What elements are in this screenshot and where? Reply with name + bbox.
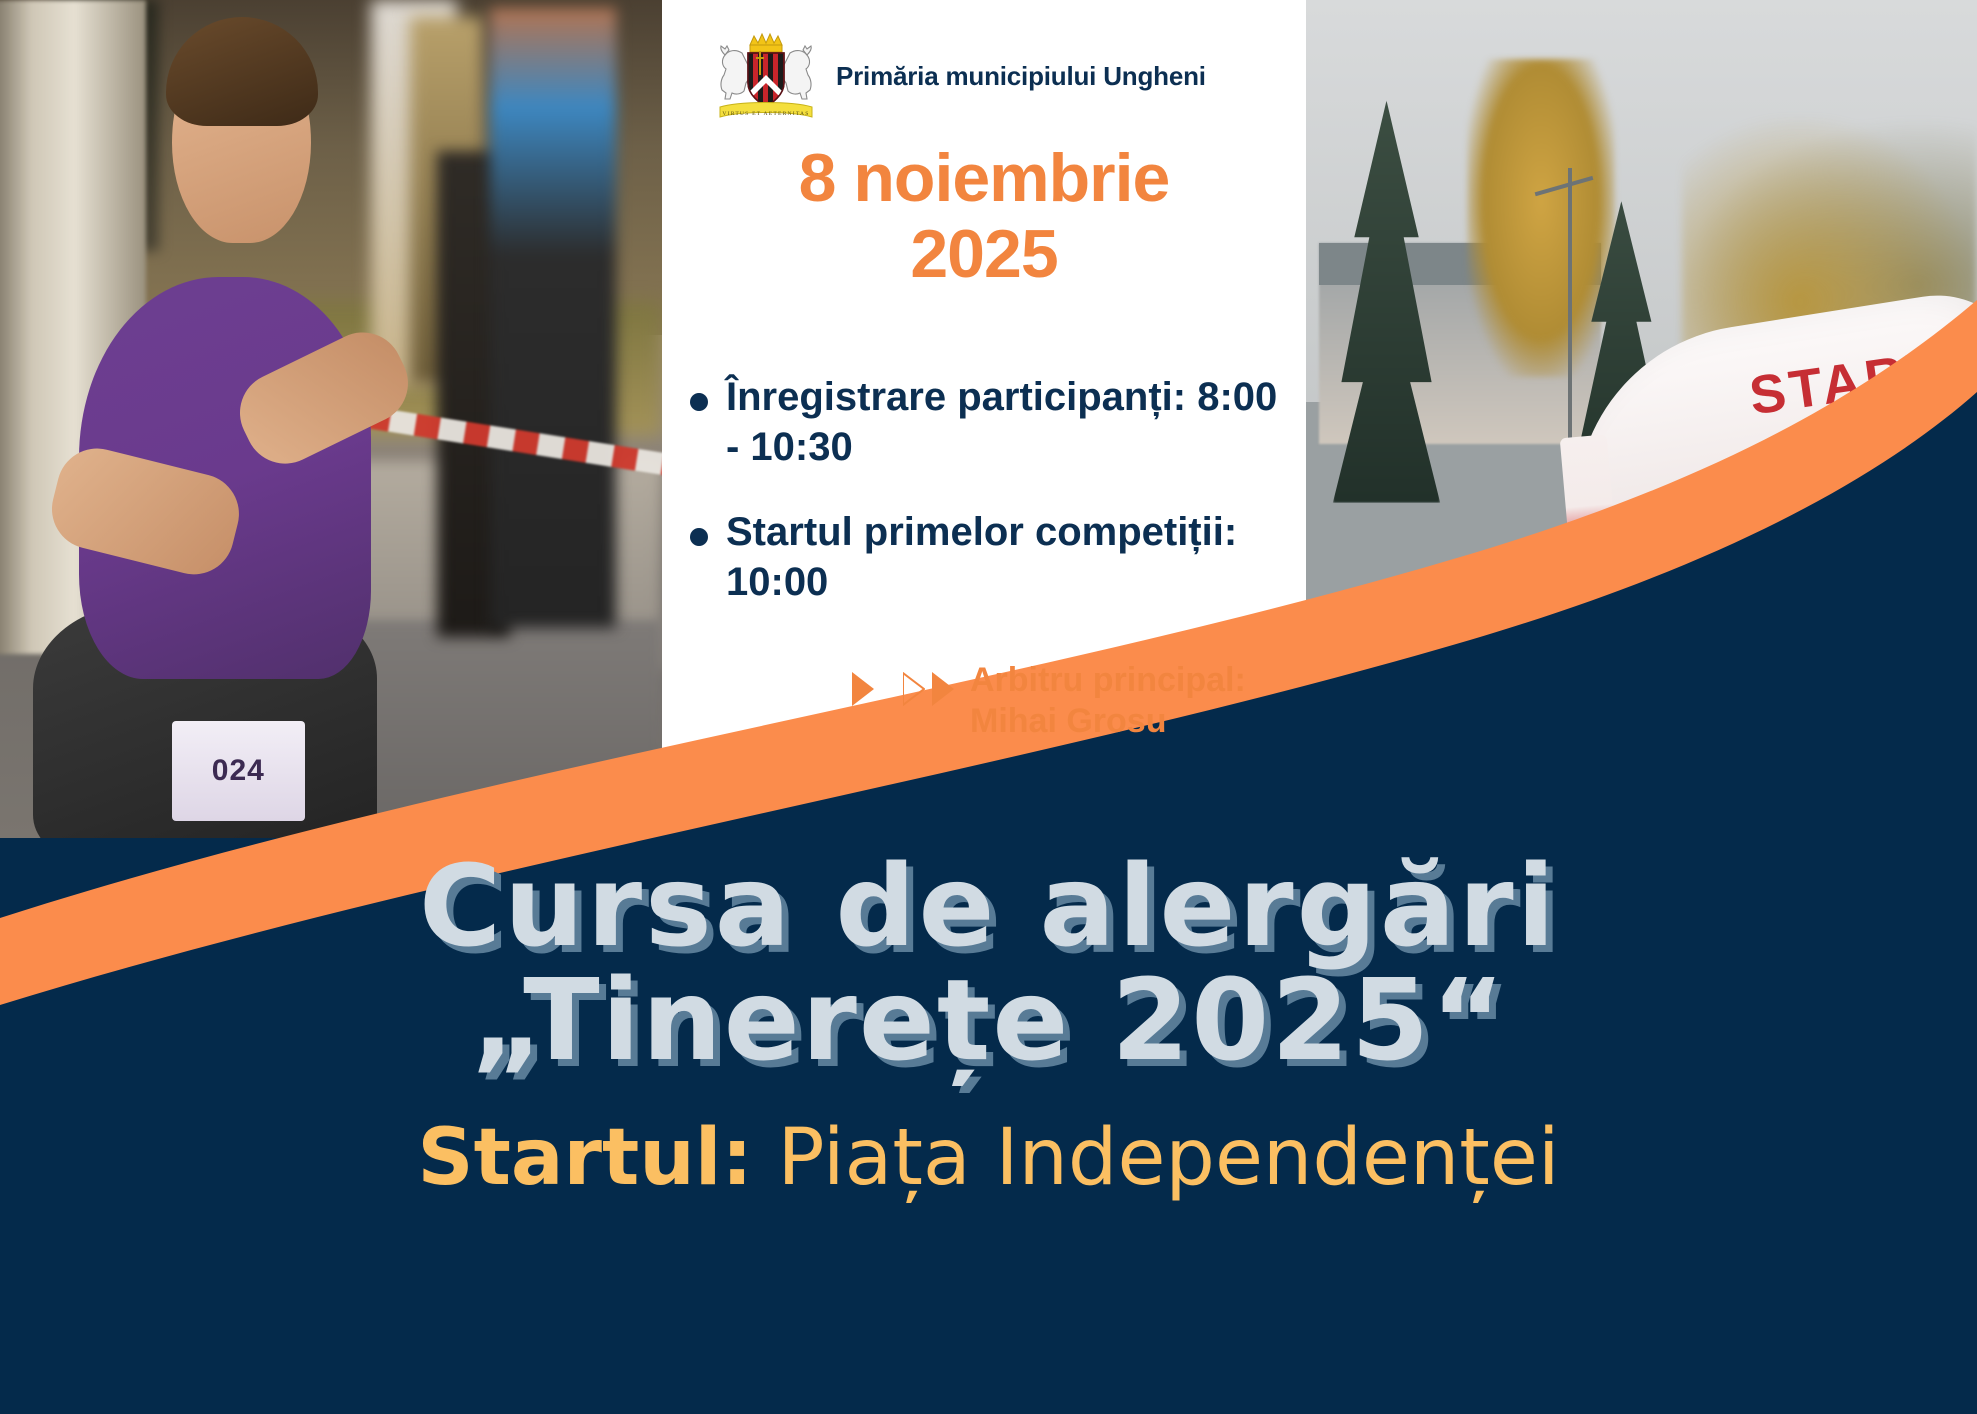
play-triangle-outline-icon <box>881 672 925 706</box>
bullet-icon <box>690 528 708 546</box>
schedule-item-start-text: Startul primelor competiții: 10:00 <box>726 507 1290 608</box>
title-block: Cursa de alergări „Tinerețe 2025“ Startu… <box>0 850 1977 1202</box>
referee-text: Arbitru principal: Mihai Grosu <box>970 660 1246 743</box>
coat-of-arms-motto: VIRTUS ET AETERNITAS <box>722 111 809 117</box>
organization-header: VIRTUS ET AETERNITAS Primăria municipiul… <box>712 22 1272 132</box>
coat-of-arms-icon: VIRTUS ET AETERNITAS <box>712 27 820 127</box>
referee-block: Arbitru principal: Mihai Grosu <box>852 660 1292 743</box>
poster-title-line1: Cursa de alergări <box>0 850 1977 964</box>
referee-name: Mihai Grosu <box>970 701 1246 742</box>
play-triangle-icon <box>932 672 954 706</box>
venue-line: Startul: Piața Independenței <box>0 1116 1977 1202</box>
venue-place: Piața Independenței <box>778 1113 1560 1203</box>
referee-label: Arbitru principal: <box>970 660 1246 701</box>
bullet-icon <box>690 393 708 411</box>
event-date-line1: 8 noiembrie <box>662 140 1306 216</box>
schedule-item-start: Startul primelor competiții: 10:00 <box>690 507 1290 608</box>
poster-title-line2: „Tinerețe 2025“ <box>0 964 1977 1078</box>
schedule-item-registration: Înregistrare participanți: 8:00 - 10:30 <box>690 372 1290 473</box>
venue-label: Startul: <box>417 1113 752 1203</box>
race-poster: 024 START 026 033 110 001 088 045 <box>0 0 1977 1414</box>
event-date-line2: 2025 <box>662 216 1306 292</box>
schedule-list: Înregistrare participanți: 8:00 - 10:30 … <box>690 372 1290 642</box>
play-triangle-icon <box>852 672 874 706</box>
schedule-item-registration-text: Înregistrare participanți: 8:00 - 10:30 <box>726 372 1290 473</box>
triple-arrow-icon <box>852 672 954 706</box>
event-date: 8 noiembrie 2025 <box>662 140 1306 292</box>
organization-name: Primăria municipiului Ungheni <box>836 62 1206 92</box>
